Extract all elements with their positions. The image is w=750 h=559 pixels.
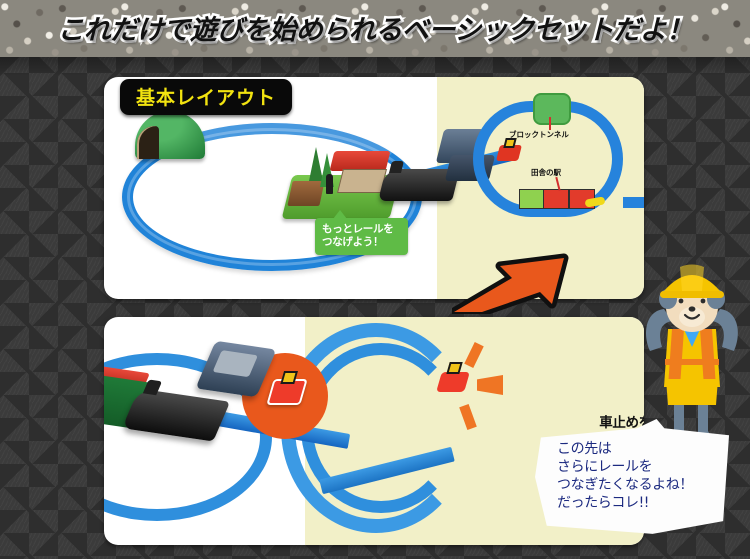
page-root: これだけで遊びを始められるベーシックセットだよ！ ブロック bbox=[0, 0, 750, 559]
schematic-country-station bbox=[519, 189, 595, 209]
bubble-line: もっとレールを bbox=[322, 223, 402, 236]
speech-line: つなぎたくなるよね！ bbox=[557, 477, 725, 495]
station-roof-model bbox=[330, 151, 391, 171]
station-building-model bbox=[337, 169, 387, 193]
basic-layout-badge: 基本レイアウト bbox=[120, 79, 292, 115]
big-orange-arrow-icon bbox=[452, 248, 572, 314]
page-title: これだけで遊びを始められるベーシックセットだよ！ bbox=[0, 8, 750, 47]
burst-mark bbox=[477, 375, 503, 395]
speech-line: さらにレールを bbox=[557, 459, 725, 477]
speech-bubble-text: この先は さらにレールを つなぎたくなるよね！ だったらコレ!! bbox=[557, 441, 725, 513]
burst-mark bbox=[464, 342, 484, 368]
country-station-label: 田舎の駅 bbox=[531, 167, 561, 178]
schematic-straight-track bbox=[623, 197, 644, 208]
block-tunnel-model bbox=[135, 111, 205, 159]
schematic-block-tunnel bbox=[533, 93, 571, 125]
connect-more-rails-bubble: もっとレールを つなげよう！ bbox=[315, 218, 408, 255]
bubble-line: つなげよう！ bbox=[322, 236, 402, 249]
speech-line: この先は bbox=[557, 441, 725, 459]
removed-buffer-stop bbox=[436, 372, 470, 392]
mascot-speech-bubble: この先は さらにレールを つなぎたくなるよね！ だったらコレ!! bbox=[535, 419, 731, 535]
speech-line: だったらコレ!! bbox=[557, 495, 725, 513]
figure-model bbox=[326, 174, 333, 194]
block-tunnel-label: ブロックトンネル bbox=[509, 129, 569, 140]
